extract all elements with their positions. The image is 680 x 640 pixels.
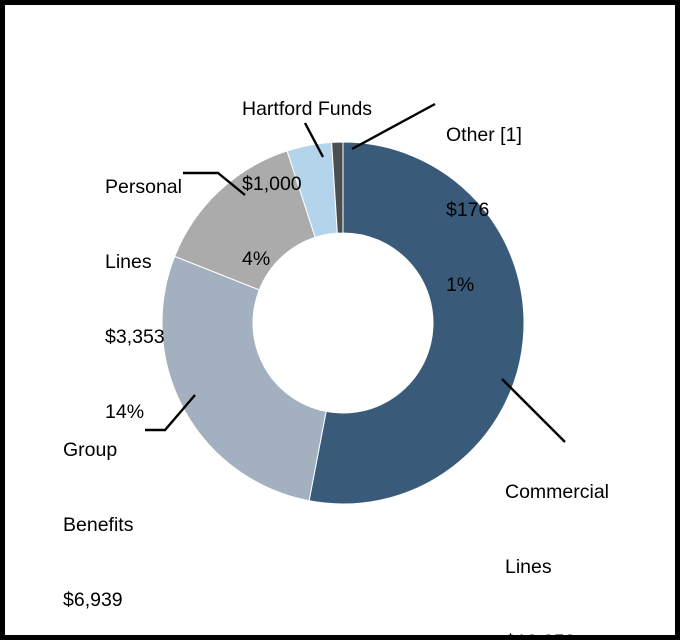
callout-group-benefits-name-2: Benefits — [63, 513, 133, 538]
callout-other-value: $176 — [446, 198, 522, 223]
callout-hartford-funds-name: Hartford Funds — [242, 97, 372, 122]
callout-personal-lines-name-1: Personal — [105, 175, 182, 200]
callout-hartford-funds: Hartford Funds $1,000 4% — [242, 47, 372, 322]
chart-frame: Hartford Funds $1,000 4% Other [1] $176 … — [0, 0, 680, 640]
callout-hartford-funds-percent: 4% — [242, 247, 372, 272]
callout-other-percent: 1% — [446, 273, 522, 298]
callout-group-benefits-value: $6,939 — [63, 588, 133, 613]
callout-personal-lines-value: $3,353 — [105, 325, 182, 350]
callout-commercial-lines: Commercial Lines $13,059 53% — [505, 430, 609, 640]
callout-group-benefits: Group Benefits $6,939 28% — [63, 388, 133, 640]
callout-group-benefits-name-1: Group — [63, 438, 133, 463]
callout-other: Other [1] $176 1% — [446, 73, 522, 348]
callout-commercial-lines-name-1: Commercial — [505, 480, 609, 505]
callout-personal-lines-name-2: Lines — [105, 250, 182, 275]
callout-commercial-lines-value: $13,059 — [505, 630, 609, 640]
callout-commercial-lines-name-2: Lines — [505, 555, 609, 580]
callout-hartford-funds-value: $1,000 — [242, 172, 372, 197]
callout-other-name: Other [1] — [446, 123, 522, 148]
